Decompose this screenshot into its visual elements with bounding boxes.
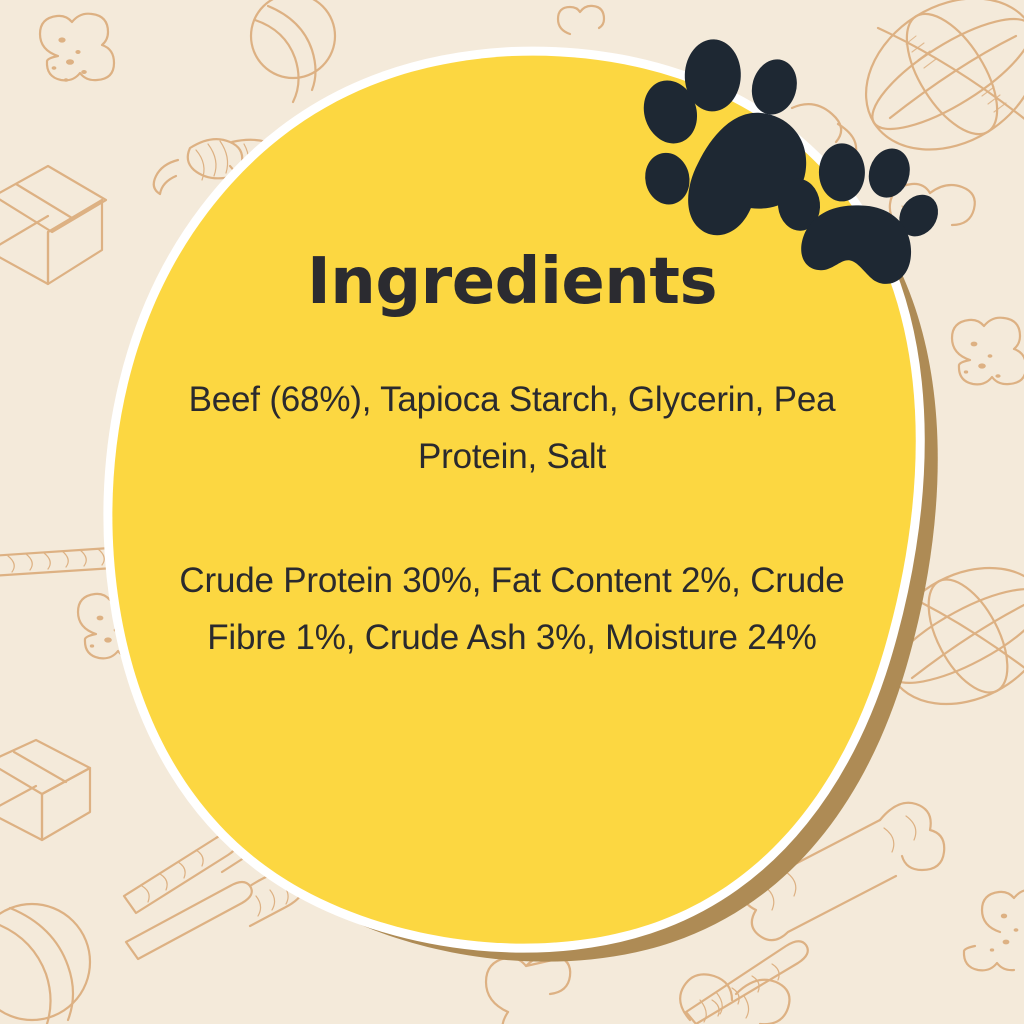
paw-toe-pad	[745, 54, 803, 120]
paw-toe-pad	[819, 143, 865, 201]
poster-canvas: Ingredients Beef (68%), Tapioca Starch, …	[0, 0, 1024, 1024]
paw-toe-pad	[640, 149, 694, 209]
paw-toe-pad	[863, 143, 916, 203]
paw-prints-group	[0, 0, 1024, 1024]
